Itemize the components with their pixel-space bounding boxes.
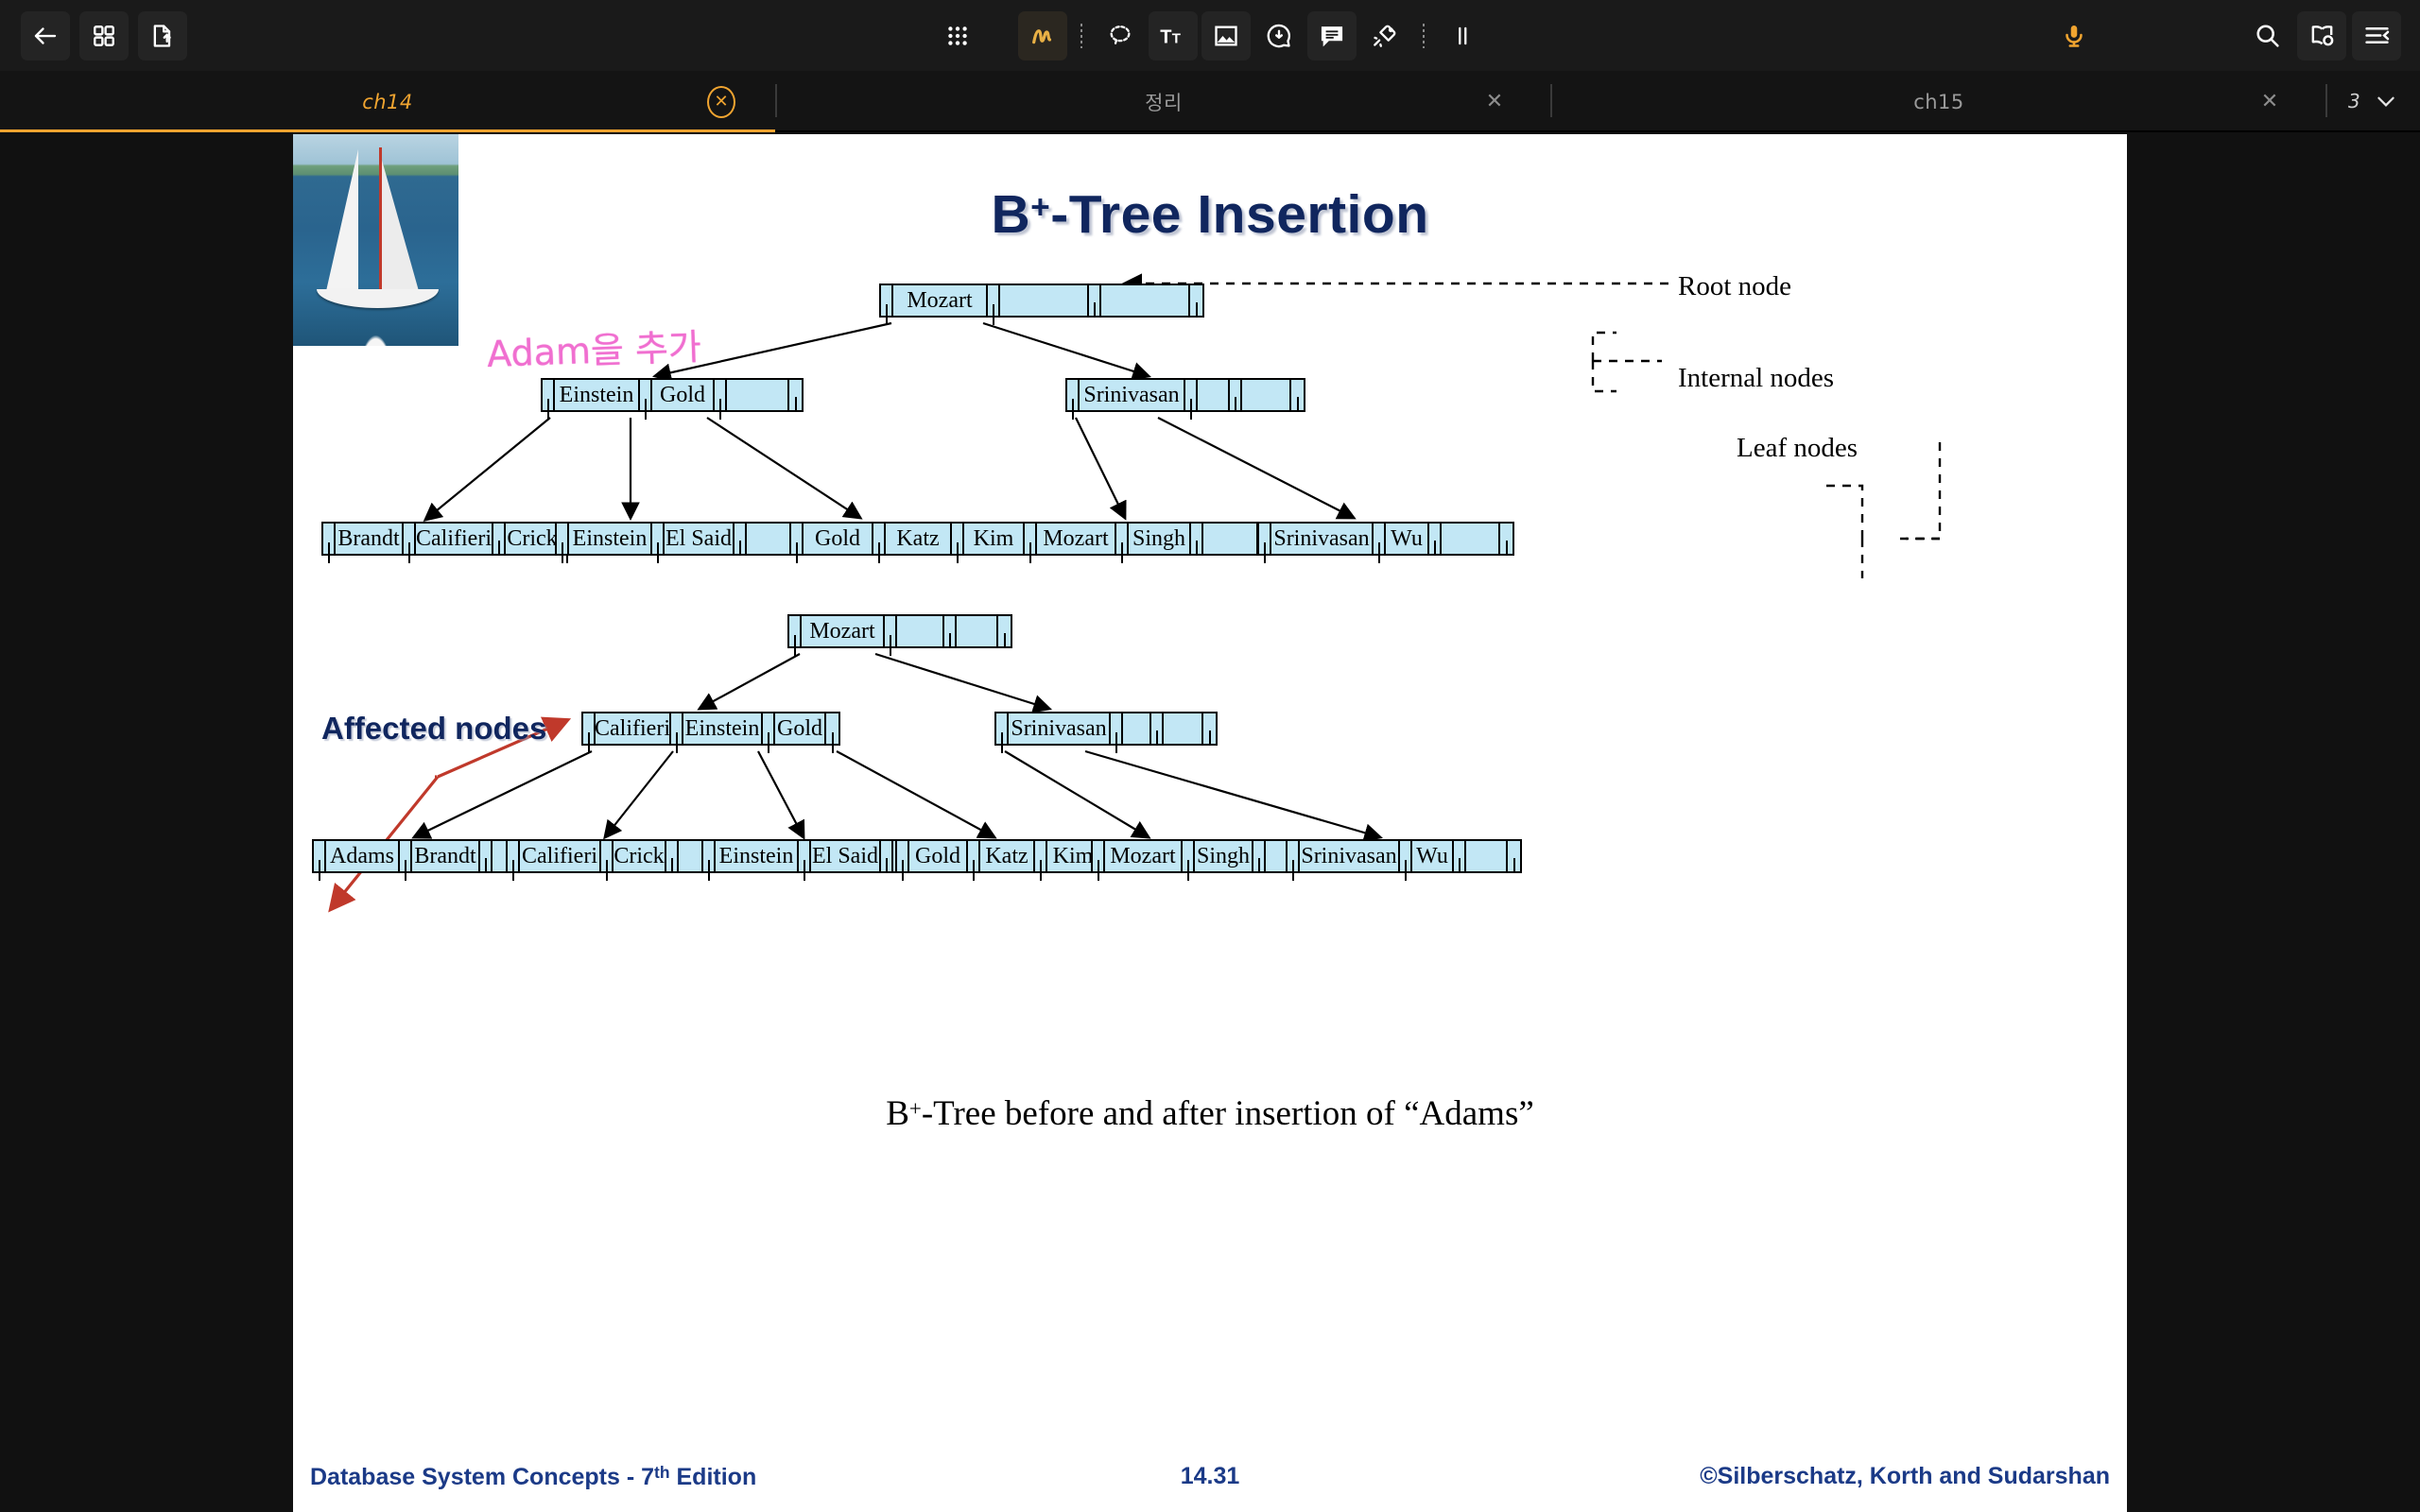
node-pointer-cell xyxy=(826,713,838,744)
leaf-gold-katz-kim: Gold Katz Kim xyxy=(789,522,1039,556)
internal-nodes-label: Internal nodes xyxy=(1678,363,1834,394)
node-key-cell: Gold xyxy=(909,841,968,871)
app-drawer-button[interactable] xyxy=(933,11,982,60)
tab-overflow-count: 3 xyxy=(2348,90,2360,112)
node-key-cell: Brandt xyxy=(336,524,404,554)
sail-hull xyxy=(317,289,440,308)
footer-edition-tail: Edition xyxy=(670,1464,757,1490)
node-pointer-cell xyxy=(789,380,802,410)
node-pointer-cell xyxy=(996,713,1009,744)
node-empty-cell xyxy=(957,616,998,646)
node-empty-cell xyxy=(1242,380,1291,410)
highlighter-tool-button[interactable] xyxy=(1254,11,1304,60)
node-key-cell: Wu xyxy=(1412,841,1454,871)
root-node-before: Mozart xyxy=(879,283,1204,318)
node-pointer-cell xyxy=(1508,841,1520,871)
node-empty-cell xyxy=(1164,713,1203,744)
internal-node-califieri-einstein-gold: Califieri Einstein Gold xyxy=(581,712,840,746)
node-key-cell: Brandt xyxy=(412,841,480,871)
tab-ch14[interactable]: ch14 ✕ xyxy=(0,71,775,132)
microphone-button[interactable] xyxy=(2049,11,2099,60)
node-key-cell: Mozart xyxy=(1037,524,1116,554)
internal-node-srinivasan-before: Srinivasan xyxy=(1065,378,1305,412)
svg-text:T: T xyxy=(1172,30,1181,46)
node-pointer-cell xyxy=(885,616,897,646)
node-pointer-cell xyxy=(1288,841,1300,871)
node-key-cell: Gold xyxy=(652,380,715,410)
pause-button[interactable] xyxy=(1438,11,1487,60)
node-pointer-cell xyxy=(1291,380,1304,410)
node-empty-cell xyxy=(1466,841,1508,871)
footer-edition-sup: th xyxy=(654,1463,670,1482)
node-pointer-cell xyxy=(1111,713,1123,744)
title-rest: -Tree Insertion xyxy=(1050,184,1428,245)
toolbar-divider-2 xyxy=(1423,24,1425,48)
notebook-app-window: TT xyxy=(0,0,2420,1512)
node-empty-cell xyxy=(897,616,944,646)
node-key-cell: Einstein xyxy=(569,524,652,554)
book-settings-button[interactable] xyxy=(2297,11,2346,60)
root-node-label: Root node xyxy=(1678,271,1791,302)
node-key-cell: Srinivasan xyxy=(1300,841,1400,871)
affected-nodes-label: Affected nodes xyxy=(321,711,546,747)
node-key-cell: Crick xyxy=(614,841,666,871)
node-pointer-cell xyxy=(1253,841,1266,871)
node-pointer-cell xyxy=(1093,841,1105,871)
node-pointer-cell xyxy=(1500,524,1512,554)
leaf-gold-katz-kim-after: Gold Katz Kim xyxy=(895,839,1115,873)
node-key-cell: Singh xyxy=(1195,841,1253,871)
root-node-after: Mozart xyxy=(787,614,1012,648)
caption-plus: + xyxy=(909,1096,922,1120)
node-key-cell: Einstein xyxy=(555,380,640,410)
node-key-cell: Einstein xyxy=(683,713,763,744)
node-empty-cell xyxy=(727,380,789,410)
leaf-srinivasan-wu-after: Srinivasan Wu xyxy=(1286,839,1522,873)
node-pointer-cell xyxy=(1454,841,1466,871)
node-key-cell: El Said xyxy=(811,841,881,871)
node-pointer-cell xyxy=(1191,524,1203,554)
node-pointer-cell xyxy=(881,285,893,316)
node-pointer-cell xyxy=(1089,285,1101,316)
node-key-cell: Katz xyxy=(886,524,952,554)
export-button[interactable] xyxy=(138,11,187,60)
image-tool-button[interactable] xyxy=(1201,11,1251,60)
node-key-cell: Singh xyxy=(1129,524,1191,554)
node-empty-cell xyxy=(1101,285,1190,316)
toolbar-divider xyxy=(1080,24,1082,48)
node-key-cell: Kim xyxy=(964,524,1025,554)
leaf-mozart-singh: Mozart Singh xyxy=(1023,522,1272,556)
node-pointer-cell xyxy=(666,841,679,871)
collapse-menu-button[interactable] xyxy=(2352,11,2401,60)
affected-nodes-arrow xyxy=(331,720,567,909)
node-pointer-cell xyxy=(314,841,326,871)
node-empty-cell xyxy=(1123,713,1151,744)
node-pointer-cell xyxy=(543,380,555,410)
node-key-cell: Mozart xyxy=(1105,841,1183,871)
node-pointer-cell xyxy=(998,616,1011,646)
node-key-cell: Crick xyxy=(506,524,561,554)
node-pointer-cell xyxy=(480,841,493,871)
node-pointer-cell xyxy=(715,380,727,410)
node-pointer-cell xyxy=(1185,380,1198,410)
slide-caption: B+-Tree before and after insertion of “A… xyxy=(293,1093,2127,1134)
leaf-nodes-label: Leaf nodes xyxy=(1737,433,1858,464)
caption-rest: -Tree before and after insertion of “Ada… xyxy=(922,1094,1534,1133)
node-empty-cell xyxy=(1442,524,1500,554)
node-pointer-cell xyxy=(1259,524,1271,554)
node-pointer-cell xyxy=(1183,841,1195,871)
internal-node-einstein-gold: Einstein Gold xyxy=(541,378,804,412)
footer-edition: Database System Concepts - 7th Edition xyxy=(310,1463,756,1491)
document-tab-bar: ch14 ✕ 정리 ✕ ch15 ✕ 3 xyxy=(0,71,2420,132)
node-key-cell: Califieri xyxy=(596,713,671,744)
node-key-cell: Srinivasan xyxy=(1009,713,1111,744)
leaf-srinivasan-wu: Srinivasan Wu xyxy=(1257,522,1514,556)
node-pointer-cell xyxy=(1429,524,1442,554)
footer-edition-main: Database System Concepts - 7 xyxy=(310,1464,654,1490)
title-plus: + xyxy=(1030,189,1050,226)
slide-footer: Database System Concepts - 7th Edition 1… xyxy=(293,1463,2127,1495)
node-key-cell: Srinivasan xyxy=(1080,380,1185,410)
node-empty-cell xyxy=(1000,285,1089,316)
node-pointer-cell xyxy=(1230,380,1242,410)
tab-overflow-group[interactable]: 3 xyxy=(2327,71,2419,130)
node-pointer-cell xyxy=(968,841,980,871)
node-pointer-cell xyxy=(703,841,716,871)
footer-page-number: 14.31 xyxy=(1181,1463,1240,1490)
node-pointer-cell xyxy=(640,380,652,410)
node-pointer-cell xyxy=(799,841,811,871)
footer-copyright: ©Silberschatz, Korth and Sudarshan xyxy=(1700,1463,2110,1490)
node-key-cell: Einstein xyxy=(716,841,799,871)
node-key-cell: El Said xyxy=(665,524,735,554)
node-pointer-cell xyxy=(1025,524,1037,554)
node-key-cell: Katz xyxy=(980,841,1035,871)
toolbar-right-group xyxy=(2049,0,2401,71)
tab-close-icon[interactable]: ✕ xyxy=(1478,86,1511,118)
node-pointer-cell xyxy=(1190,285,1202,316)
search-button[interactable] xyxy=(2242,11,2291,60)
node-key-cell: Califieri xyxy=(520,841,601,871)
svg-text:T: T xyxy=(1160,26,1171,47)
node-pointer-cell xyxy=(671,713,683,744)
node-pointer-cell xyxy=(881,841,893,871)
node-pointer-cell xyxy=(1374,524,1386,554)
node-pointer-cell xyxy=(1116,524,1129,554)
node-pointer-cell xyxy=(789,616,802,646)
title-b: B xyxy=(991,184,1030,245)
node-pointer-cell xyxy=(652,524,665,554)
internal-node-srinivasan-after: Srinivasan xyxy=(994,712,1218,746)
leaf-brandt-califieri-crick: Brandt Califieri Crick xyxy=(321,522,575,556)
node-key-cell: Mozart xyxy=(893,285,988,316)
tab-jeongri[interactable]: 정리 ✕ xyxy=(777,71,1550,132)
node-pointer-cell xyxy=(952,524,964,554)
node-pointer-cell xyxy=(735,524,747,554)
node-pointer-cell xyxy=(404,524,416,554)
grid-view-button[interactable] xyxy=(79,11,129,60)
tab-active-underline xyxy=(0,129,775,132)
node-key-cell: Califieri xyxy=(416,524,493,554)
node-key-cell: Srinivasan xyxy=(1271,524,1374,554)
node-pointer-cell xyxy=(763,713,775,744)
eraser-tool-button[interactable] xyxy=(1360,11,1409,60)
tab-label: 정리 xyxy=(1145,88,1183,116)
back-button[interactable] xyxy=(21,11,70,60)
node-pointer-cell xyxy=(400,841,412,871)
node-pointer-cell xyxy=(583,713,596,744)
node-pointer-cell xyxy=(1035,841,1047,871)
node-pointer-cell xyxy=(1400,841,1412,871)
tab-label: ch14 xyxy=(362,91,413,113)
node-pointer-cell xyxy=(944,616,957,646)
node-key-cell: Adams xyxy=(326,841,400,871)
toolbar-center-group: TT xyxy=(933,0,1487,71)
node-pointer-cell xyxy=(508,841,520,871)
pen-tool-button[interactable] xyxy=(1018,11,1067,60)
tab-ch15[interactable]: ch15 ✕ xyxy=(1552,71,2325,132)
node-pointer-cell xyxy=(988,285,1000,316)
chevron-down-icon[interactable] xyxy=(2374,89,2398,113)
leaf-einstein-elsaid: Einstein El Said xyxy=(555,522,812,556)
slide-canvas: B+-Tree Insertion Adam을 추가 xyxy=(293,134,2127,1512)
comment-tool-button[interactable] xyxy=(1307,11,1357,60)
toolbar-left-group xyxy=(0,11,187,60)
node-pointer-cell xyxy=(1151,713,1164,744)
handwritten-annotation: Adam을 추가 xyxy=(486,318,702,377)
node-pointer-cell xyxy=(601,841,614,871)
node-key-cell: Gold xyxy=(775,713,826,744)
node-empty-cell xyxy=(1203,524,1258,554)
node-pointer-cell xyxy=(873,524,886,554)
top-toolbar: TT xyxy=(0,0,2420,71)
lasso-tool-button[interactable] xyxy=(1096,11,1145,60)
node-key-cell: Gold xyxy=(804,524,873,554)
node-key-cell: Mozart xyxy=(802,616,885,646)
text-tool-button[interactable]: TT xyxy=(1149,11,1198,60)
node-pointer-cell xyxy=(1203,713,1216,744)
node-pointer-cell xyxy=(323,524,336,554)
node-pointer-cell xyxy=(1067,380,1080,410)
node-pointer-cell xyxy=(493,524,506,554)
tab-close-icon[interactable]: ✕ xyxy=(707,86,735,118)
node-key-cell: Wu xyxy=(1386,524,1429,554)
tab-close-icon[interactable]: ✕ xyxy=(2254,86,2286,118)
tab-label: ch15 xyxy=(1913,91,1964,113)
node-pointer-cell xyxy=(791,524,804,554)
node-pointer-cell xyxy=(897,841,909,871)
node-pointer-cell xyxy=(557,524,569,554)
page-title: B+-Tree Insertion xyxy=(293,183,2127,246)
node-empty-cell xyxy=(1198,380,1230,410)
caption-b: B xyxy=(886,1094,909,1133)
